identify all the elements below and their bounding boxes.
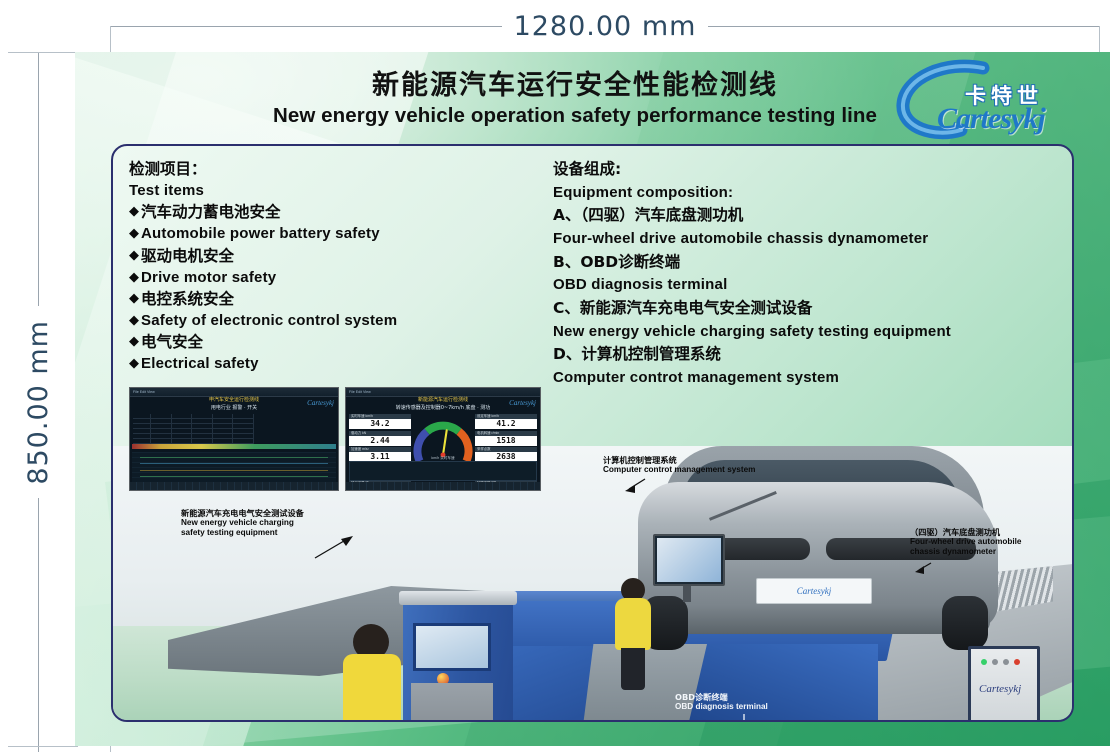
equipment-item-en: OBD diagnosis terminal	[553, 274, 1023, 297]
content-frame: Cartesykj	[111, 144, 1074, 722]
test-item-en: Drive motor safety	[141, 267, 276, 288]
vehicle-license-plate: Cartesykj	[756, 578, 872, 604]
dimension-width: 1280.00 mm	[110, 6, 1100, 46]
operator-torso	[343, 654, 401, 722]
screenshot-trace-chart	[349, 461, 537, 481]
dimension-height: 850.00 mm	[8, 52, 68, 752]
equipment-item-en: New energy vehicle charging safety testi…	[553, 321, 1023, 344]
plate-logo: Cartesykj	[797, 586, 832, 596]
equipment-item-en: Computer controt management system	[553, 367, 1023, 390]
callout-en-line1: OBD diagnosis terminal	[675, 702, 768, 712]
diamond-bullet-icon: ◆	[129, 267, 139, 287]
cabinet-top-cover	[399, 591, 517, 605]
diamond-bullet-icon: ◆	[129, 245, 139, 265]
callout-arrow-icon	[313, 534, 357, 562]
equipment-item-cn: A、（四驱）汽车底盘测功机	[553, 204, 1023, 228]
test-item-row: ◆ 驱动电机安全	[129, 245, 559, 267]
screenshot-waveform-area	[132, 452, 336, 482]
callout-obd-terminal: OBD诊断终端 OBD diagnosis terminal	[675, 692, 768, 712]
callout-arrow-icon	[623, 477, 649, 497]
brand-logo: 卡特世 Cartesykj	[887, 58, 1087, 144]
test-item-cn: 驱动电机安全	[141, 245, 234, 267]
readout-item: 电机转速 r/min1518	[475, 431, 537, 446]
workstation-monitor	[653, 534, 725, 586]
dimension-line-left	[110, 26, 502, 27]
control-box-logo: Cartesykj	[979, 683, 1021, 695]
test-item-row: ◆ Automobile power battery safety	[129, 223, 559, 244]
screenshot-brand-logo: Cartesykj	[509, 399, 536, 407]
test-item-cn: 电气安全	[141, 331, 203, 353]
logo-english: Cartesykj	[937, 102, 1045, 136]
test-items-panel: 检测项目： Test items ◆ 汽车动力蓄电池安全 ◆ Automobil…	[129, 158, 559, 374]
equipment-item-cn: D、计算机控制管理系统	[553, 343, 1023, 367]
callout-en-line2: chassis dynamometer	[910, 547, 1021, 557]
equipment-heading-en: Equipment composition:	[553, 182, 1023, 205]
software-screenshot-datalog: File Edit View 申汽车安全运行检测线 用电行业 报警 · 开关 C…	[129, 387, 339, 491]
callout-en-line2: safety testing equipment	[181, 528, 304, 538]
dimension-line-right	[708, 26, 1100, 27]
diamond-bullet-icon: ◆	[129, 201, 139, 221]
callout-cn: 计算机控制管理系统	[603, 455, 755, 465]
callout-arrow-icon	[913, 560, 935, 578]
screenshot-titlebar: File Edit View	[346, 388, 540, 397]
charging-test-cabinet	[403, 601, 513, 722]
test-item-row: ◆ 汽车动力蓄电池安全	[129, 201, 559, 223]
operator-at-cabinet	[343, 624, 401, 722]
poster-header: 新能源汽车运行安全性能检测线 New energy vehicle operat…	[75, 52, 1110, 144]
callout-charging-equipment: 新能源汽车充电电气安全测试设备 New energy vehicle charg…	[181, 508, 304, 538]
callout-cn: OBD诊断终端	[675, 692, 768, 702]
callout-en-line1: New energy vehicle charging	[181, 518, 304, 528]
led-green-icon	[981, 659, 987, 665]
readout-item: 实时车速 km/h34.2	[349, 414, 411, 429]
vehicle-bumper	[646, 604, 990, 634]
test-item-row: ◆ 电气安全	[129, 331, 559, 353]
dimension-height-label: 850.00 mm	[23, 306, 54, 499]
diamond-bullet-icon: ◆	[129, 288, 139, 308]
dimension-line-bottom	[38, 498, 39, 752]
equipment-heading-cn: 设备组成:	[553, 158, 1023, 182]
test-items-heading-en: Test items	[129, 180, 559, 201]
callout-computer-system: 计算机控制管理系统 Computer controt management sy…	[603, 455, 755, 475]
monitor-stand	[683, 586, 691, 602]
test-item-en: Safety of electronic control system	[141, 310, 397, 331]
dimension-tick-top	[8, 52, 78, 53]
screenshot-titlebar: File Edit View	[130, 388, 338, 397]
diamond-bullet-icon: ◆	[129, 353, 139, 373]
screenshot-root: 1280.00 mm 850.00 mm 新能源汽车运行安全性能检测线 New …	[0, 0, 1120, 754]
cabinet-screen	[413, 623, 491, 671]
screenshot-colorbar	[132, 444, 336, 449]
readout-value: 34.2	[349, 419, 411, 429]
dimension-width-label: 1280.00 mm	[502, 11, 709, 42]
test-item-cn: 汽车动力蓄电池安全	[141, 201, 281, 223]
test-item-row: ◆ 电控系统安全	[129, 288, 559, 310]
readout-value: 1518	[475, 436, 537, 446]
readout-item: 设定车速 km/h41.2	[475, 414, 537, 429]
equipment-item-en: Four-wheel drive automobile chassis dyna…	[553, 228, 1023, 251]
callout-en-line1: Computer controt management system	[603, 465, 755, 475]
screenshot-statusbar	[130, 482, 338, 490]
callout-arrow-icon	[735, 714, 753, 722]
test-item-row: ◆ Electrical safety	[129, 353, 559, 374]
operator-legs	[621, 648, 645, 690]
dimension-line-top	[38, 52, 39, 306]
diamond-bullet-icon: ◆	[129, 331, 139, 351]
title-chinese: 新能源汽车运行安全性能检测线	[255, 70, 895, 101]
dyno-control-box: Cartesykj	[968, 646, 1040, 722]
equipment-item-cn: B、OBD诊断终端	[553, 251, 1023, 275]
equipment-item-cn: C、新能源汽车充电电气安全测试设备	[553, 297, 1023, 321]
diamond-bullet-icon: ◆	[129, 310, 139, 330]
monitor-screen	[657, 538, 721, 582]
title-english: New energy vehicle operation safety perf…	[255, 104, 895, 128]
screenshot-brand-logo: Cartesykj	[307, 399, 334, 407]
equipment-composition-panel: 设备组成: Equipment composition: A、（四驱）汽车底盘测…	[553, 158, 1023, 390]
callout-cn: （四驱）汽车底盘测功机	[910, 527, 1021, 537]
dimension-tick-bottom	[8, 746, 78, 747]
test-item-row: ◆ Safety of electronic control system	[129, 310, 559, 331]
vehicle-wheel-right	[942, 596, 988, 650]
led-grey-icon	[1003, 659, 1009, 665]
callout-chassis-dynamometer: （四驱）汽车底盘测功机 Four-wheel drive automobile …	[910, 527, 1021, 557]
software-screenshot-dynamometer: File Edit View 新能源汽车运行检测线 转速传感器及控制器0~7km…	[345, 387, 541, 491]
control-box-leds	[981, 659, 1020, 665]
cabinet-front-panel	[411, 683, 493, 722]
page-title: 新能源汽车运行安全性能检测线 New energy vehicle operat…	[255, 70, 895, 128]
screenshot-menu-label: File Edit View	[133, 390, 155, 394]
readout-value: 41.2	[475, 419, 537, 429]
operator-at-workstation	[613, 578, 653, 688]
screenshot-menu-label: File Edit View	[349, 390, 371, 394]
screenshot-data-table	[133, 414, 254, 444]
readout-item: 驱动力 kN2.44	[349, 431, 411, 446]
led-red-icon	[1014, 659, 1020, 665]
test-item-row: ◆ Drive motor safety	[129, 267, 559, 288]
diamond-bullet-icon: ◆	[129, 223, 139, 243]
callout-cn: 新能源汽车充电电气安全测试设备	[181, 508, 304, 518]
test-items-heading-cn: 检测项目：	[129, 158, 559, 180]
poster-artwork: 新能源汽车运行安全性能检测线 New energy vehicle operat…	[75, 52, 1110, 746]
test-item-cn: 电控系统安全	[141, 288, 234, 310]
test-item-en: Automobile power battery safety	[141, 223, 380, 244]
readout-value: 2.44	[349, 436, 411, 446]
led-grey-icon	[992, 659, 998, 665]
test-item-en: Electrical safety	[141, 353, 259, 374]
screenshot-statusbar	[346, 482, 540, 490]
callout-en-line1: Four-wheel drive automobile	[910, 537, 1021, 547]
operator-torso	[615, 598, 651, 650]
